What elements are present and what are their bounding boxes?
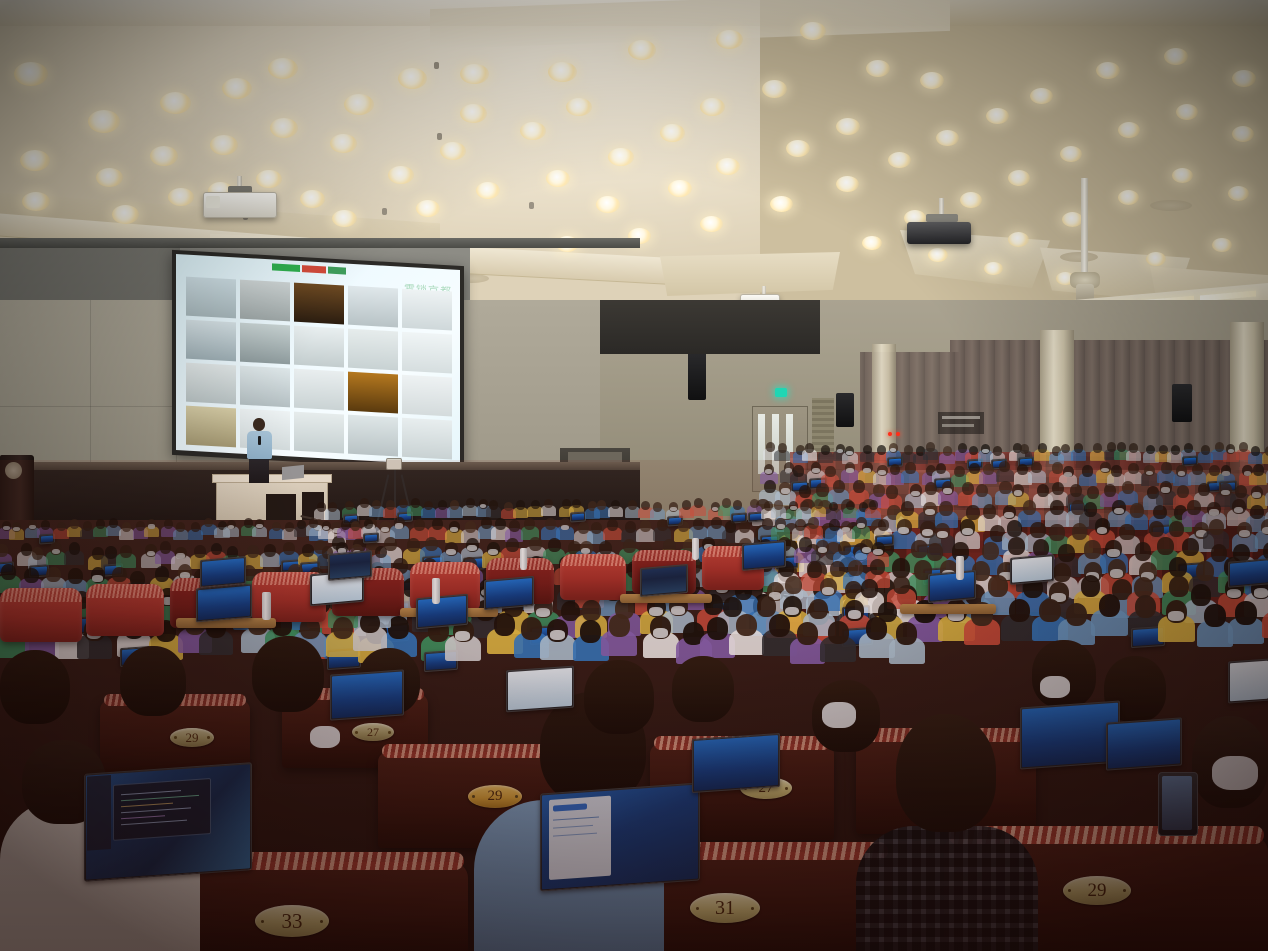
recessed-downlight [546,170,570,187]
face-mask [1212,756,1258,790]
audience-head [302,544,314,557]
audience-head [1099,594,1120,617]
face-mask [785,468,793,473]
audience-head [905,462,916,473]
face-mask [536,608,550,617]
wall-panel-seam [0,406,180,407]
face-mask [1114,508,1124,514]
face-mask [848,610,862,619]
recessed-downlight [160,92,191,114]
audience-head [846,501,855,511]
seat-number-text: 29 [186,731,199,744]
recessed-downlight [1118,190,1139,205]
audience-head [1239,442,1248,452]
audience-head [309,518,318,528]
recessed-downlight [786,140,810,157]
face-mask [863,468,871,473]
slide-photo [402,289,452,331]
face-mask [925,509,935,515]
face-mask [1064,472,1072,477]
audience-head [1201,445,1210,455]
recessed-downlight [960,192,982,208]
audience-head [1017,464,1028,475]
face-mask [1222,471,1230,476]
slide-topbar-red [302,265,326,273]
wall-panel-seam [90,300,91,480]
audience-head [21,543,33,556]
face-mask [381,527,389,532]
presenter [245,418,273,480]
audience-head [936,463,947,474]
laptop-foreground-center[interactable] [540,782,700,891]
audience-head [466,498,475,508]
face-mask [147,551,155,556]
seat-number-text: 29 [488,789,503,804]
audience-head [32,547,44,560]
audience-head [1009,599,1030,622]
audience-head [524,518,535,530]
audience-head [506,538,519,552]
audience-head [424,501,433,511]
water-bottle [692,538,699,560]
audience-head [297,520,306,530]
audience-head [582,600,601,621]
audience-head [993,446,1002,456]
audience-head [285,522,294,532]
audience-head [1191,584,1211,605]
audience-head [793,465,804,476]
recessed-downlight [700,216,723,232]
laptop[interactable] [200,556,246,588]
recessed-downlight [388,166,414,184]
sprinkler-head-icon [382,208,387,215]
face-mask [671,606,685,615]
audience-head [69,542,81,555]
recessed-downlight [928,248,948,262]
recessed-downlight [936,130,959,146]
recessed-downlight [1164,48,1188,65]
audience-head [890,464,901,475]
audience-head [877,445,886,455]
face-mask [1168,611,1183,621]
audience-head [736,614,757,637]
audience-head [1157,537,1174,555]
face-mask [822,702,856,728]
slide-photo [402,375,452,417]
audience-head [96,519,105,529]
audience-head [495,518,506,530]
equipment-rack-panel [568,452,622,462]
ceiling-vent [1150,200,1192,211]
audience-head [1093,443,1102,453]
audience-head [580,620,601,643]
laptop-foreground-left[interactable] [84,762,252,882]
phone-screen [1162,776,1192,830]
ceiling-wedge [660,252,840,296]
audience-head [1074,443,1083,453]
recessed-downlight [628,40,656,60]
audience-head [833,480,845,493]
laptop[interactable] [196,584,252,623]
status-led-red [896,432,900,436]
audience-head [870,559,885,575]
audience-head [999,481,1011,494]
audience-head [345,501,354,511]
audience-head [1135,595,1156,618]
slide-photo [402,332,452,374]
slide-photo [240,366,290,408]
recessed-downlight [1176,104,1198,120]
laptop[interactable] [570,511,586,522]
recessed-downlight [1096,62,1120,79]
slide-photo [240,280,290,322]
audience-head [516,500,525,510]
audience-head [1184,443,1193,453]
face-mask [561,525,569,530]
face-mask [446,549,455,555]
sprinkler-head-icon [529,202,534,209]
audience-head [509,520,520,532]
audience-head [711,517,722,529]
seat-number-text: 33 [282,911,303,932]
audience-head [927,543,944,561]
audience-head [388,616,409,639]
face-mask [1221,490,1230,496]
recessed-downlight [548,62,577,82]
audience-head [969,446,978,456]
recessed-downlight [112,205,139,224]
seat-number-text: 29 [1088,881,1107,900]
audience-head [901,501,915,516]
audience-head [333,617,353,639]
audience-head [816,483,828,496]
audience-head [1007,520,1022,536]
audience-head [733,500,742,510]
audience-head [176,522,185,532]
laptop[interactable] [363,532,379,543]
face-mask [228,525,234,529]
audience-head [120,646,186,716]
recessed-downlight [460,104,487,123]
audience-head [386,500,395,510]
projection-screen[interactable]: 雾锁京都 [176,254,460,466]
seat[interactable] [0,588,82,642]
face-mask [898,527,909,534]
audience-head [375,546,387,559]
audience-head [1081,575,1101,596]
audience-head [799,537,812,551]
face-mask [52,549,60,554]
audience-head [861,579,878,597]
recessed-downlight [330,134,357,153]
audience-head [628,500,637,510]
audience-head [1053,563,1071,583]
water-bottle [956,556,964,580]
recessed-downlight [836,118,860,135]
slide-photo [186,277,236,319]
audience-head [83,521,92,531]
audience-head [678,521,689,533]
audience-head [328,502,337,512]
audience-head [607,519,618,531]
laptop[interactable] [1106,717,1182,770]
face-mask [842,527,850,532]
face-mask [846,451,852,455]
audience-head [896,622,917,645]
status-led-red [888,432,892,436]
wall-top-trim [0,238,640,248]
laptop[interactable] [1228,558,1268,588]
face-mask [467,545,476,551]
recessed-downlight [150,146,178,166]
audience-head [809,599,828,620]
face-mask [1209,509,1219,515]
wall-speaker [1172,384,1192,422]
audience-head [869,500,878,510]
audience-head [572,499,581,509]
face-mask [1239,530,1250,537]
audience-head [848,560,863,576]
recessed-downlight [862,236,882,250]
audience-head [1169,521,1184,537]
audience-head [694,498,703,508]
face-mask [1178,471,1186,476]
ceiling-vent [1060,252,1098,262]
seat-number-text: 27 [367,726,379,738]
audience-head [1122,481,1134,494]
slide-photo [186,406,236,448]
recessed-downlight [210,135,238,155]
recessed-downlight [332,210,357,227]
audience-head [68,568,83,584]
face-mask [323,526,329,530]
audience-head [623,539,636,553]
sprinkler-head-icon [437,133,442,140]
audience-head [797,622,818,645]
audience-head [863,445,872,455]
audience-head [1235,485,1247,498]
university-emblem-icon [5,462,22,479]
face-mask [837,449,843,453]
seat-number-plate: 31 [690,893,760,923]
laptop[interactable] [330,669,404,720]
audience-head [283,542,295,555]
wall-speaker [836,393,854,427]
audience-head [983,504,997,519]
face-mask [1227,589,1241,598]
audience-head [983,464,994,475]
slide-topbar-green [272,263,300,272]
face-mask [812,468,820,473]
audience-head [105,546,117,559]
slide-photo [294,326,344,368]
laptop[interactable] [640,564,688,597]
audience-head [191,522,200,532]
laptop[interactable] [328,550,372,581]
audience-head [544,499,553,509]
presenter-laptop[interactable] [282,465,304,480]
recessed-downlight [268,58,298,79]
seat-number-plate: 27 [352,723,394,741]
audience-head [264,544,276,557]
recessed-downlight [1232,70,1256,87]
recessed-downlight [716,30,743,49]
face-mask [943,488,952,494]
audience-head [1171,445,1180,455]
audience-head [252,636,324,712]
slide-photo [348,372,398,414]
recessed-downlight [700,98,725,116]
audience-head [1149,521,1164,537]
recessed-downlight [770,196,793,212]
face-mask [1097,527,1108,534]
face-mask [781,488,790,494]
audience-head [988,575,1008,596]
audience-head [672,656,734,722]
audience-head [693,518,704,530]
audience-head [1187,500,1201,515]
audience-head [609,614,630,637]
seat-number-plate: 33 [255,905,329,937]
slide-photo-grid [186,277,452,460]
audience-head [160,541,172,554]
face-mask [1107,549,1119,557]
audience-head [0,650,70,724]
face-mask [1262,527,1268,534]
face-mask [653,628,668,638]
slide-photo [186,363,236,405]
audience-head [1104,484,1116,497]
audience-head [481,517,492,529]
audience-head [1052,462,1063,473]
recessed-downlight [986,108,1009,124]
slide-photo [240,323,290,365]
face-mask [1254,588,1268,597]
laptop[interactable] [1020,701,1120,770]
recessed-downlight [716,158,740,175]
recessed-downlight [14,62,48,86]
audience-head [1058,544,1075,562]
audience-head [640,520,651,532]
laptop[interactable] [506,666,574,713]
laptop[interactable] [416,594,468,630]
audience-member [856,826,1038,951]
audience-head [1031,462,1042,473]
face-mask [878,470,886,475]
audience-head [926,442,935,452]
water-bottle [520,548,527,570]
audience-head [1032,640,1096,708]
recessed-downlight [222,78,252,99]
recessed-downlight [168,188,194,206]
audience-head [591,522,602,534]
face-mask [395,523,403,528]
audience-head [1250,505,1264,520]
slide-photo [294,412,344,454]
audience-head [1251,446,1260,456]
audience-head [1,564,16,580]
seat-headrest [382,744,560,758]
audience-head [120,545,132,558]
recessed-downlight [660,124,685,142]
audience-head [774,500,783,510]
laptop[interactable] [692,733,780,793]
recessed-downlight [256,170,282,188]
face-mask [148,524,154,528]
audience-head [1211,544,1228,562]
audience-head [46,567,61,583]
face-mask [670,507,676,511]
recessed-downlight [608,148,634,166]
seat[interactable] [86,584,164,636]
slide-photo [348,286,398,328]
audience-head [825,466,836,477]
recessed-downlight [668,180,692,197]
audience-head [958,443,967,453]
recessed-downlight [1118,122,1140,138]
presenter-head [253,418,265,431]
audience-head [1177,485,1189,498]
audience-head [164,519,173,529]
audience-head [1082,465,1093,476]
audience-head [244,518,253,528]
audience-head [0,544,8,557]
desk-tablet [620,594,712,603]
slide-photo [294,283,344,325]
laptop[interactable] [928,570,976,603]
face-mask [1252,492,1261,498]
slide-photo [186,320,236,362]
recessed-downlight [88,110,120,133]
recessed-downlight [1232,126,1254,142]
audience-head [425,537,438,551]
presenter-legs [249,459,269,483]
recessed-downlight [836,176,859,192]
recessed-downlight [566,98,592,116]
audience-head [853,480,865,493]
audience-head [1129,443,1138,453]
audience-head [962,482,974,495]
audience-head [411,498,420,508]
recessed-downlight [1060,146,1082,162]
audience-head [1087,486,1099,499]
recessed-downlight [476,182,500,199]
recessed-downlight [596,196,620,213]
laptop[interactable] [1228,659,1268,704]
seat-number-text: 31 [715,898,735,918]
audience-head [57,522,66,532]
face-mask [92,575,103,582]
laptop[interactable] [742,540,786,571]
recessed-downlight [888,152,911,168]
seat[interactable] [560,554,626,600]
face-mask [310,726,340,748]
laptop[interactable] [484,576,534,610]
recessed-downlight [1146,252,1166,266]
audience-head [112,567,127,583]
audience-head [778,443,787,453]
wall-sign-line [942,424,974,427]
recessed-downlight [920,72,944,89]
editor-sidebar [87,775,111,851]
audience-head [70,519,79,529]
audience-head [886,485,898,498]
audience-head [838,541,851,555]
laptop[interactable] [1010,554,1054,585]
audience-head [739,521,750,533]
recessed-downlight [344,94,374,115]
face-mask [857,523,865,528]
